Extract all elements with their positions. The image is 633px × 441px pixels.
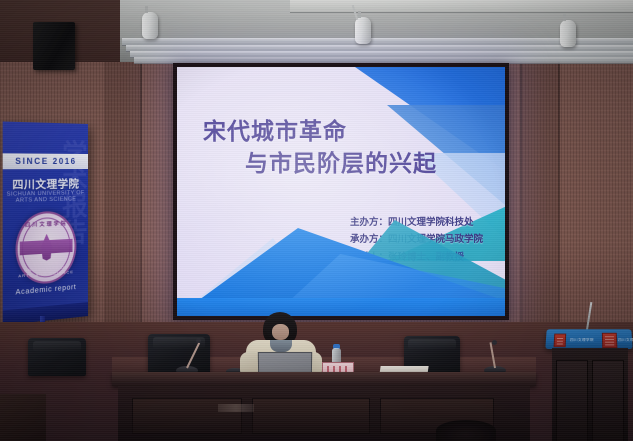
banner-institution-en: SICHUAN UNIVERSITY OF ARTS AND SCIENCE	[3, 190, 88, 204]
slide-title-line2: 与市民阶层的兴起	[177, 149, 505, 178]
roll-up-banner: 学术报告 SINCE 2016 四川文理学院 SICHUAN UNIVERSIT…	[3, 121, 88, 325]
slide-credit-organizer: 主办方：四川文理学院科技处	[350, 214, 483, 231]
wall-panel	[104, 56, 142, 356]
microphone-head	[492, 340, 497, 345]
lecture-hall-scene: 宋代城市革命 与市民阶层的兴起 主办方：四川文理学院科技处 承办方：四川文理学院…	[0, 0, 633, 441]
slide-title: 宋代城市革命 与市民阶层的兴起	[177, 117, 505, 177]
projection-screen-frame: 宋代城市革命 与市民阶层的兴起 主办方：四川文理学院科技处 承办方：四川文理学院…	[173, 63, 509, 320]
ceiling-front-strip	[290, 0, 633, 13]
spotlight-icon	[142, 12, 158, 39]
podium-door	[556, 360, 588, 441]
table-emblem	[218, 404, 254, 412]
banner-since-label: SINCE 2016	[15, 157, 76, 166]
table-panel	[252, 398, 370, 434]
podium-door	[592, 360, 624, 441]
wall-panel	[520, 56, 560, 326]
microphone-head	[196, 338, 201, 343]
presenter-collar	[270, 340, 292, 352]
podium-seal-icon	[554, 334, 567, 348]
podium-seal-icon	[602, 333, 618, 348]
conference-table-top	[112, 372, 536, 386]
stage-side-cabinet	[0, 394, 46, 441]
slide-title-line1: 宋代城市革命	[177, 117, 505, 146]
presentation-slide: 宋代城市革命 与市民阶层的兴起 主办方：四川文理学院科技处 承办方：四川文理学院…	[177, 67, 505, 316]
slide-shape-bottom-band	[177, 298, 505, 316]
foreground-audience-head	[436, 420, 496, 441]
podium-top-surface: 四川文理学院 四川文理学院	[545, 329, 632, 349]
conference-chair	[28, 338, 86, 376]
podium-plaque-text-right: 四川文理学院	[618, 338, 633, 343]
banner-footer-label: Academic report	[3, 283, 88, 298]
ceiling-speaker	[33, 22, 75, 70]
university-logo: 四川文理学院 SICHUAN UNIVERSITY OF ARTS AND SC…	[16, 210, 77, 286]
spotlight-icon	[355, 17, 371, 44]
presenter-face	[272, 324, 289, 340]
spotlight-icon	[560, 20, 576, 47]
banner-since-band: SINCE 2016	[3, 153, 88, 169]
podium-plaque-text: 四川文理学院	[570, 338, 594, 343]
logo-arc-top-text: 四川文理学院	[18, 219, 75, 229]
logo-arc-bottom-text: SICHUAN UNIVERSITY OF ARTS AND SCIENCE	[18, 259, 75, 279]
